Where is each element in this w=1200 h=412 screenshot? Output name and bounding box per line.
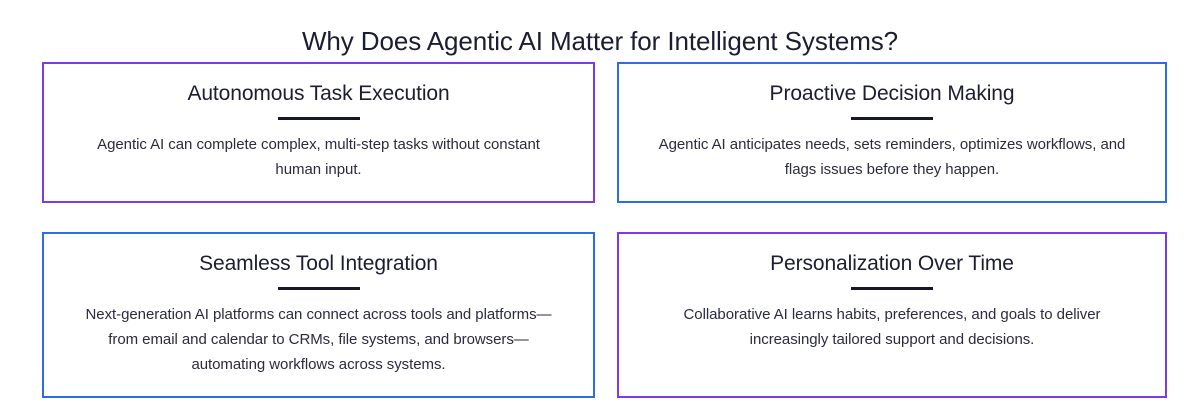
benefit-card-autonomous-task-execution: Autonomous Task Execution Agentic AI can…: [42, 62, 595, 203]
benefit-card-seamless-tool-integration: Seamless Tool Integration Next-generatio…: [42, 232, 595, 398]
infographic-page: Why Does Agentic AI Matter for Intellige…: [0, 0, 1200, 412]
card-divider: [851, 287, 933, 290]
card-body: Collaborative AI learns habits, preferen…: [657, 302, 1127, 352]
card-divider: [278, 287, 360, 290]
card-body: Next-generation AI platforms can connect…: [84, 302, 554, 377]
card-body: Agentic AI can complete complex, multi-s…: [84, 132, 554, 182]
card-divider: [851, 117, 933, 120]
card-heading: Seamless Tool Integration: [44, 250, 593, 278]
benefit-card-proactive-decision-making: Proactive Decision Making Agentic AI ant…: [617, 62, 1167, 203]
card-heading: Proactive Decision Making: [619, 80, 1165, 108]
page-title: Why Does Agentic AI Matter for Intellige…: [0, 25, 1200, 57]
benefit-card-grid: Autonomous Task Execution Agentic AI can…: [42, 62, 1167, 398]
card-heading: Autonomous Task Execution: [44, 80, 593, 108]
benefit-card-personalization-over-time: Personalization Over Time Collaborative …: [617, 232, 1167, 398]
card-heading: Personalization Over Time: [619, 250, 1165, 278]
card-body: Agentic AI anticipates needs, sets remin…: [657, 132, 1127, 182]
card-divider: [278, 117, 360, 120]
